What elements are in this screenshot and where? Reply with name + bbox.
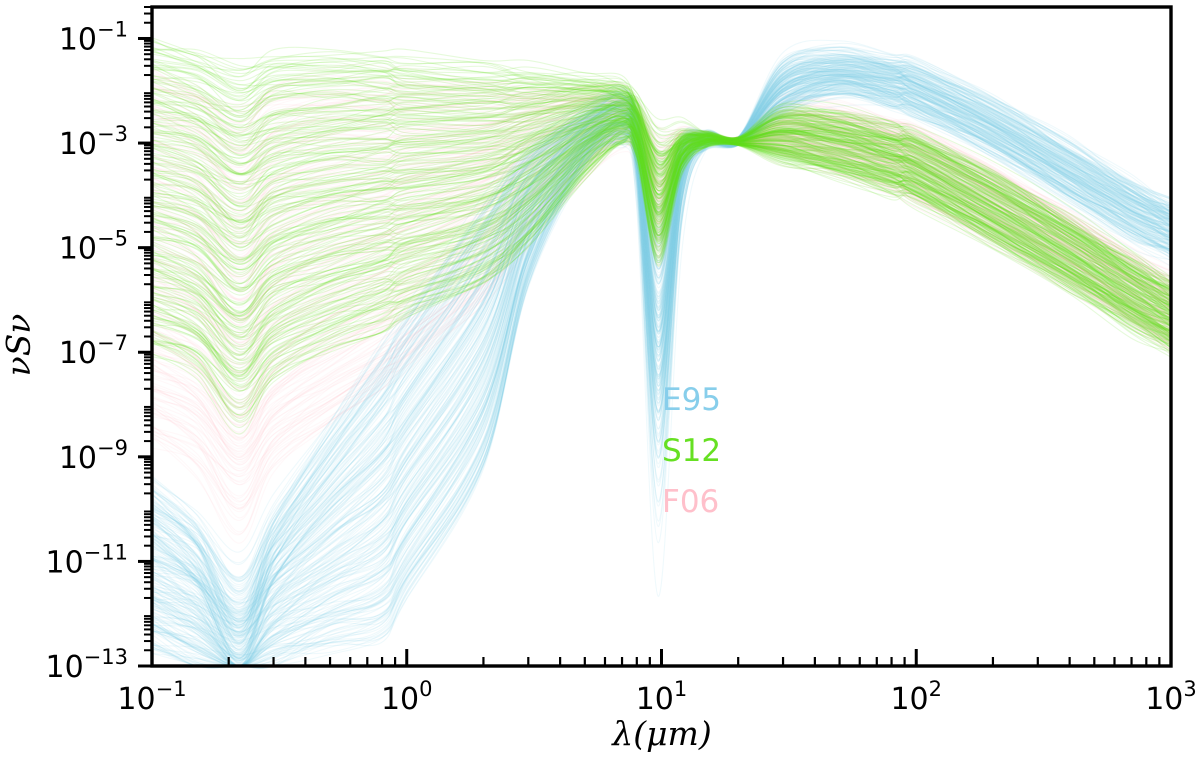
sed-plot: 10−110010110210310−110−310−510−710−910−1… <box>0 0 1200 765</box>
figure-canvas: 10−110010110210310−110−310−510−710−910−1… <box>0 0 1200 765</box>
legend-label-s12[interactable]: S12 <box>662 433 721 469</box>
legend: E95S12F06 <box>662 382 721 520</box>
x-axis-label: λ(μm) <box>610 714 711 753</box>
legend-label-e95[interactable]: E95 <box>662 382 721 418</box>
y-axis-label: νSν <box>0 314 38 377</box>
legend-label-f06[interactable]: F06 <box>662 484 719 520</box>
